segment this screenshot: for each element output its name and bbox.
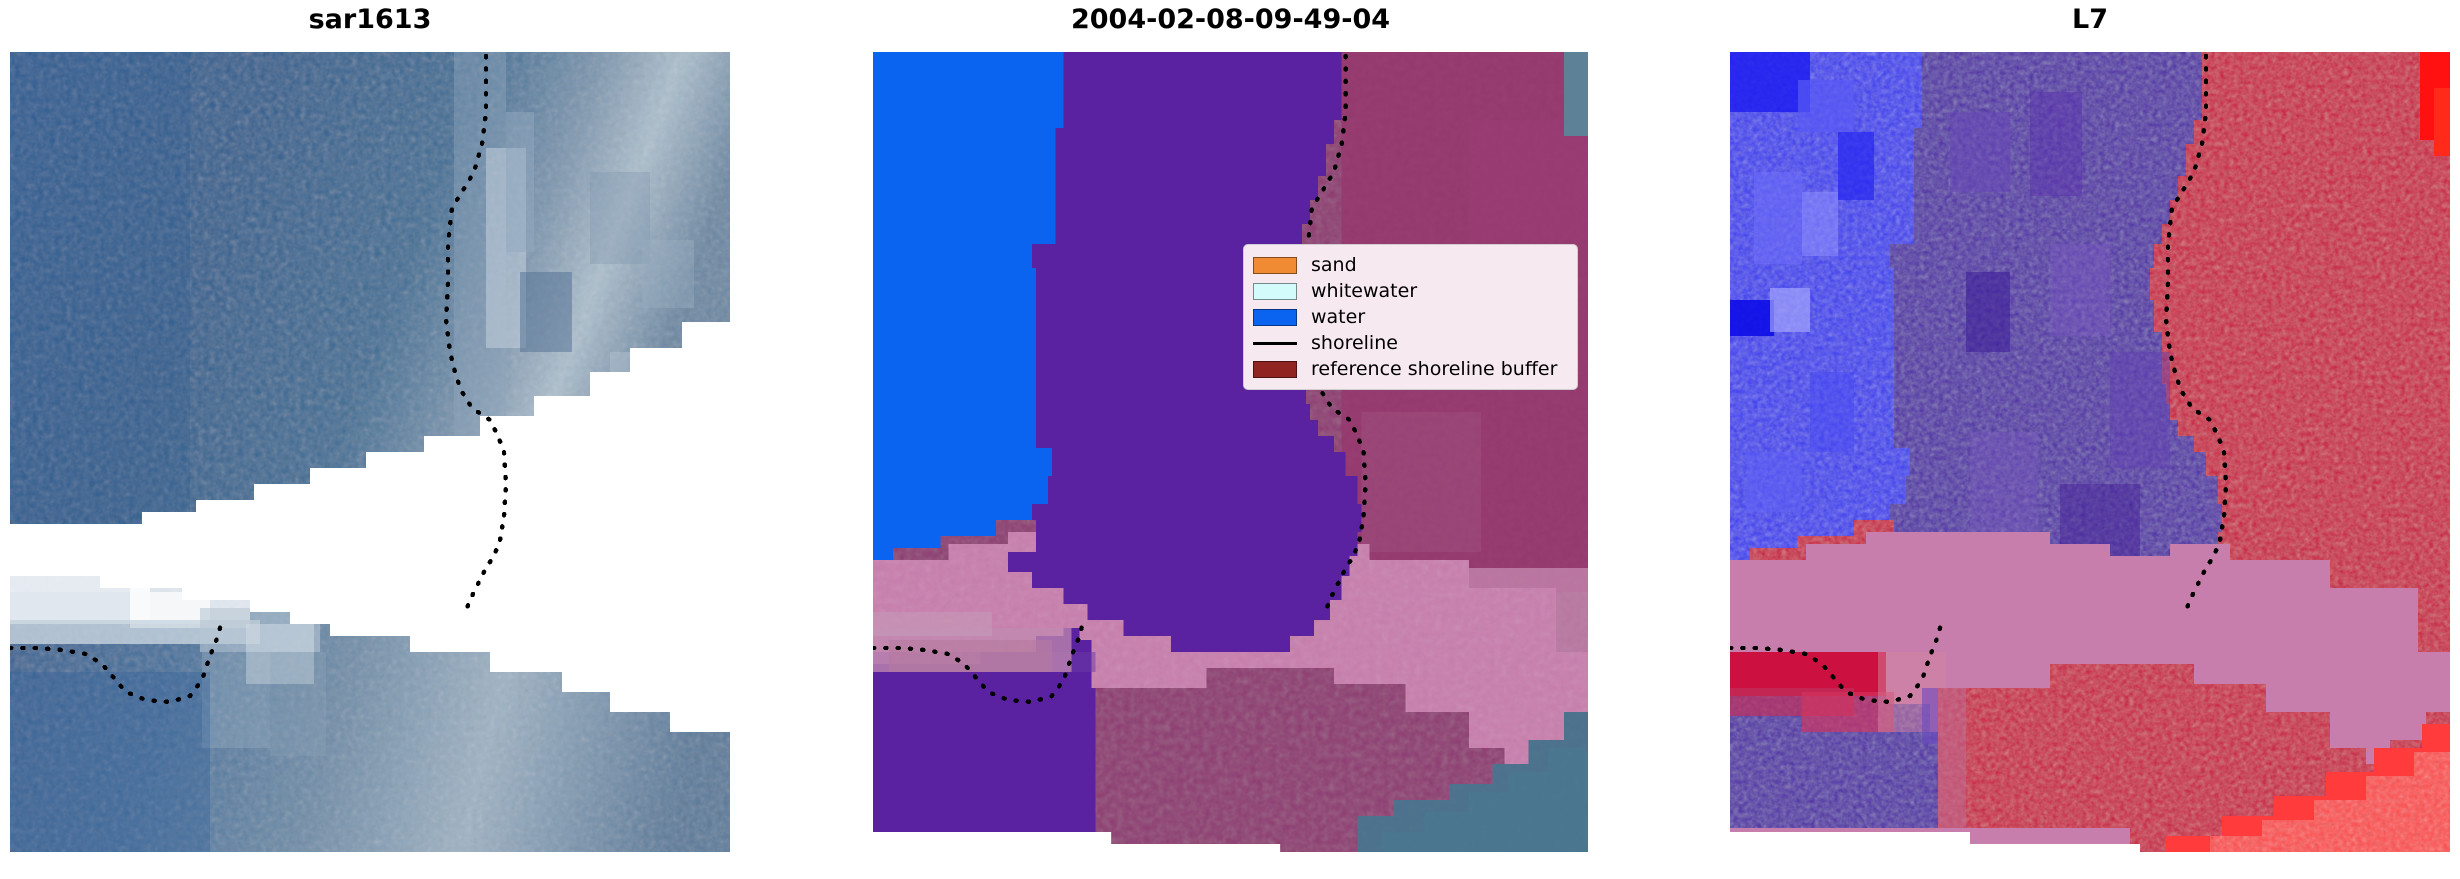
panel-title-sar1613: sar1613 bbox=[10, 4, 730, 35]
legend-box: sand whitewater water shoreline referenc… bbox=[1243, 244, 1578, 390]
raster-sar1613 bbox=[10, 52, 730, 852]
legend-label-reference-shoreline-buffer: reference shoreline buffer bbox=[1311, 360, 1557, 379]
legend-item-water[interactable]: water bbox=[1253, 304, 1567, 330]
figure-canvas: sar1613 bbox=[0, 0, 2460, 879]
legend-item-reference-shoreline-buffer[interactable]: reference shoreline buffer bbox=[1253, 356, 1567, 382]
legend-swatch-shoreline bbox=[1253, 342, 1297, 345]
panel-l7: L7 bbox=[1730, 0, 2450, 879]
raster-segmentation bbox=[873, 52, 1588, 852]
legend-label-whitewater: whitewater bbox=[1311, 282, 1417, 301]
legend-swatch-water bbox=[1253, 309, 1297, 326]
legend-item-shoreline[interactable]: shoreline bbox=[1253, 330, 1567, 356]
legend-item-whitewater[interactable]: whitewater bbox=[1253, 278, 1567, 304]
axes-timestamp[interactable] bbox=[873, 52, 1588, 852]
axes-l7[interactable] bbox=[1730, 52, 2450, 852]
legend-item-sand[interactable]: sand bbox=[1253, 252, 1567, 278]
legend-swatch-whitewater bbox=[1253, 283, 1297, 300]
legend-swatch-reference-shoreline-buffer bbox=[1253, 361, 1297, 378]
axes-sar1613[interactable] bbox=[10, 52, 730, 852]
panel-sar1613: sar1613 bbox=[10, 0, 730, 879]
legend-swatch-sand bbox=[1253, 257, 1297, 274]
legend-label-shoreline: shoreline bbox=[1311, 334, 1398, 353]
panel-title-timestamp: 2004-02-08-09-49-04 bbox=[873, 4, 1588, 35]
raster-l7 bbox=[1730, 52, 2450, 852]
legend-label-water: water bbox=[1311, 308, 1365, 327]
panel-2004-02-08-09-49-04: 2004-02-08-09-49-04 bbox=[873, 0, 1588, 879]
legend-label-sand: sand bbox=[1311, 256, 1357, 275]
panel-title-l7: L7 bbox=[1730, 4, 2450, 35]
